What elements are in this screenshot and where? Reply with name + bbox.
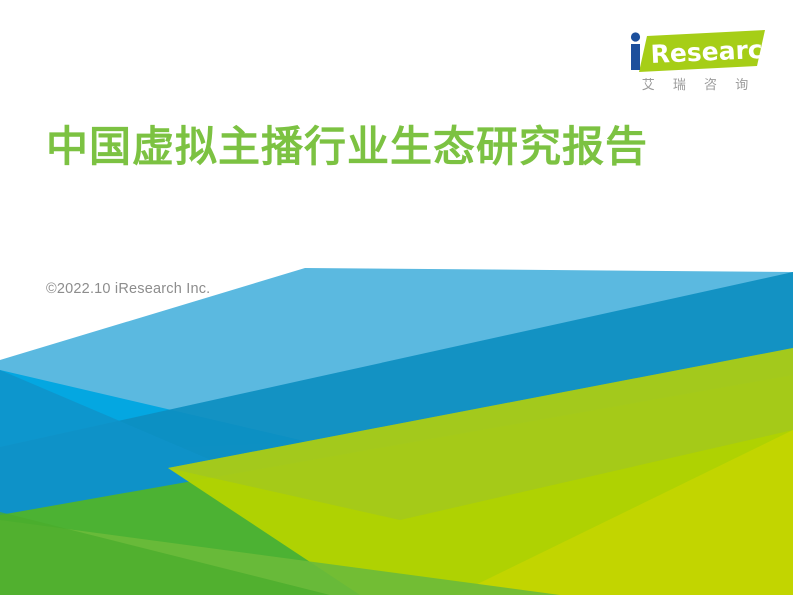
logo-research-text: Research (650, 34, 765, 69)
title-slide: Research 艾 瑞 咨 询 中国虚拟主播行业生态研究报告 ©2022.10… (0, 0, 793, 595)
iresearch-logo: Research 艾 瑞 咨 询 (625, 30, 765, 102)
logo-wordmark: Research (625, 30, 765, 74)
logo-i-dot-icon (631, 32, 640, 41)
logo-subtitle: 艾 瑞 咨 询 (625, 74, 765, 93)
copyright-text: ©2022.10 iResearch Inc. (46, 281, 210, 297)
logo-i-stem-icon (631, 44, 640, 70)
title-block: 中国虚拟主播行业生态研究报告 (46, 118, 666, 176)
page-title: 中国虚拟主播行业生态研究报告 (46, 118, 666, 176)
